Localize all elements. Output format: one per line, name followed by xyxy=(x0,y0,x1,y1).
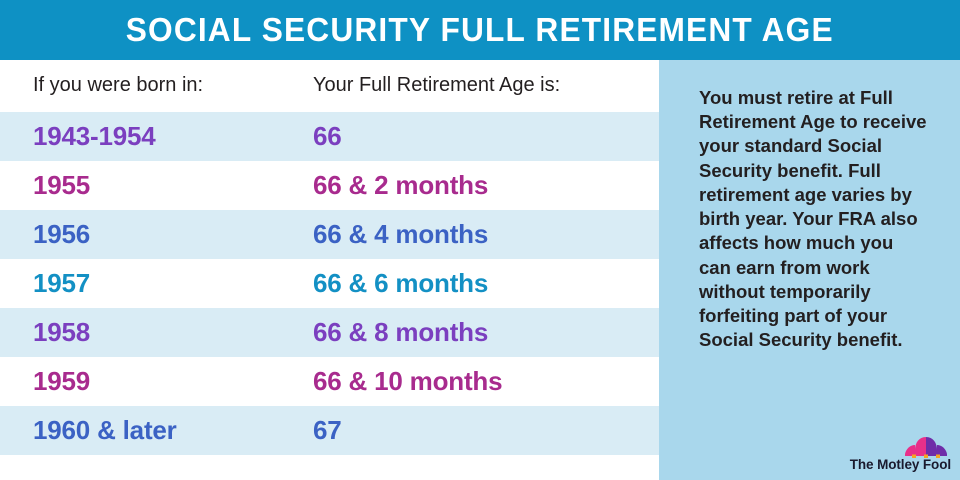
motley-fool-logo: The Motley Fool xyxy=(845,436,951,472)
note-text: You must retire at Full Retirement Age t… xyxy=(699,86,929,353)
cell-birth-year: 1959 xyxy=(33,365,90,396)
column-header-birth-year: If you were born in: xyxy=(33,74,203,97)
table-row: 1943-195466 xyxy=(0,112,659,161)
cell-full-retirement-age: 66 & 2 months xyxy=(313,169,488,200)
cell-birth-year: 1960 & later xyxy=(33,414,177,445)
cell-birth-year: 1956 xyxy=(33,218,90,249)
body-area: If you were born in: Your Full Retiremen… xyxy=(0,60,960,480)
column-header-full-retirement-age: Your Full Retirement Age is: xyxy=(313,74,560,97)
infographic-root: SOCIAL SECURITY FULL RETIREMENT AGE If y… xyxy=(0,0,960,480)
table-row: 195566 & 2 months xyxy=(0,161,659,210)
table-header-row: If you were born in: Your Full Retiremen… xyxy=(0,60,659,112)
cell-full-retirement-age: 66 & 8 months xyxy=(313,316,488,347)
jester-hat-icon xyxy=(903,436,949,458)
cell-full-retirement-age: 66 & 6 months xyxy=(313,267,488,298)
cell-full-retirement-age: 66 & 4 months xyxy=(313,218,488,249)
cell-birth-year: 1955 xyxy=(33,169,90,200)
cell-birth-year: 1957 xyxy=(33,267,90,298)
cell-full-retirement-age: 66 & 10 months xyxy=(313,365,502,396)
table-row: 195966 & 10 months xyxy=(0,357,659,406)
table-row: 195766 & 6 months xyxy=(0,259,659,308)
header-banner: SOCIAL SECURITY FULL RETIREMENT AGE xyxy=(0,0,960,60)
table-row: 1960 & later67 xyxy=(0,406,659,455)
table-row: 195866 & 8 months xyxy=(0,308,659,357)
cell-full-retirement-age: 67 xyxy=(313,414,342,445)
retirement-age-table: If you were born in: Your Full Retiremen… xyxy=(0,60,659,480)
cell-birth-year: 1958 xyxy=(33,316,90,347)
table-row: 195666 & 4 months xyxy=(0,210,659,259)
logo-wordmark: The Motley Fool xyxy=(845,457,951,472)
page-title: SOCIAL SECURITY FULL RETIREMENT AGE xyxy=(126,11,834,49)
cell-birth-year: 1943-1954 xyxy=(33,120,156,151)
note-panel: You must retire at Full Retirement Age t… xyxy=(659,60,960,480)
cell-full-retirement-age: 66 xyxy=(313,120,342,151)
